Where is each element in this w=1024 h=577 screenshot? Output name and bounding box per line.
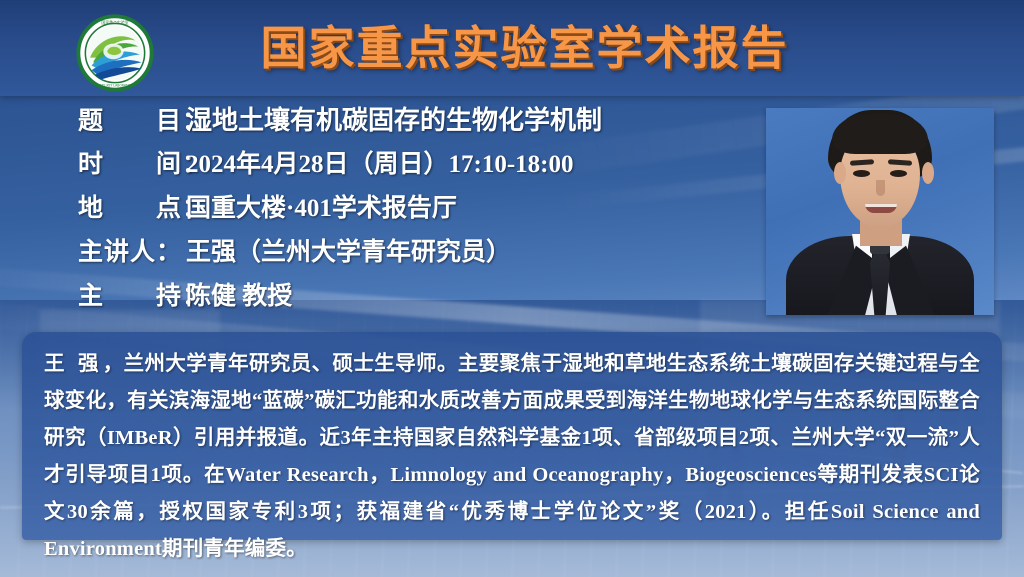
speaker-bio-text: 王 强，兰州大学青年研究员、硕士生导师。主要聚焦于湿地和草地生态系统土壤碳固存关…	[44, 346, 980, 568]
info-label-speaker: 主讲人：	[78, 232, 186, 268]
info-row-speaker: 主讲人： 王强（兰州大学青年研究员）	[78, 232, 758, 276]
info-row-host: 主 持： 陈健 教授	[78, 276, 758, 320]
info-row-location: 地 点： 国重大楼·401学术报告厅	[78, 188, 758, 232]
info-label-topic: 题 目：	[78, 101, 186, 137]
info-label-location: 地 点：	[78, 188, 186, 224]
seminar-info-block: 题 目： 湿地土壤有机碳固存的生物化学机制 时 间： 2024年4月28日（周日…	[78, 100, 758, 320]
portrait-ear-right	[922, 162, 934, 184]
speaker-portrait-photo	[766, 108, 994, 315]
portrait-eye-right	[890, 170, 907, 177]
info-value-location: 国重大楼·401学术报告厅	[186, 188, 457, 224]
info-value-speaker: 王强（兰州大学青年研究员）	[186, 232, 511, 268]
info-value-time: 2024年4月28日（周日）17:10-18:00	[186, 144, 573, 180]
info-row-topic: 题 目： 湿地土壤有机碳固存的生物化学机制	[78, 100, 758, 144]
speaker-bio-body: ，兰州大学青年研究员、硕士生导师。主要聚焦于湿地和草地生态系统土壤碳固存关键过程…	[44, 353, 980, 560]
portrait-ear-left	[834, 162, 846, 184]
portrait-hair-fringe	[832, 114, 928, 154]
info-row-time: 时 间： 2024年4月28日（周日）17:10-18:00	[78, 144, 758, 188]
portrait-eye-left	[853, 170, 870, 177]
poster-header: 国家重点实验室 STATE KEY LABORATORY 国家重点实验室学术报告	[0, 0, 1024, 96]
speaker-bio-name: 王 强	[44, 353, 103, 375]
page-title: 国家重点实验室学术报告	[0, 0, 1024, 96]
portrait-mouth	[865, 204, 897, 213]
info-label-host: 主 持：	[78, 276, 186, 312]
info-value-topic: 湿地土壤有机碳固存的生物化学机制	[186, 100, 602, 137]
info-value-host: 陈健 教授	[186, 276, 292, 312]
portrait-nose	[876, 180, 885, 196]
info-label-time: 时 间：	[78, 144, 186, 180]
speaker-bio-panel: 王 强，兰州大学青年研究员、硕士生导师。主要聚焦于湿地和草地生态系统土壤碳固存关…	[22, 332, 1002, 540]
seminar-poster: 国家重点实验室 STATE KEY LABORATORY 国家重点实验室学术报告…	[0, 0, 1024, 577]
